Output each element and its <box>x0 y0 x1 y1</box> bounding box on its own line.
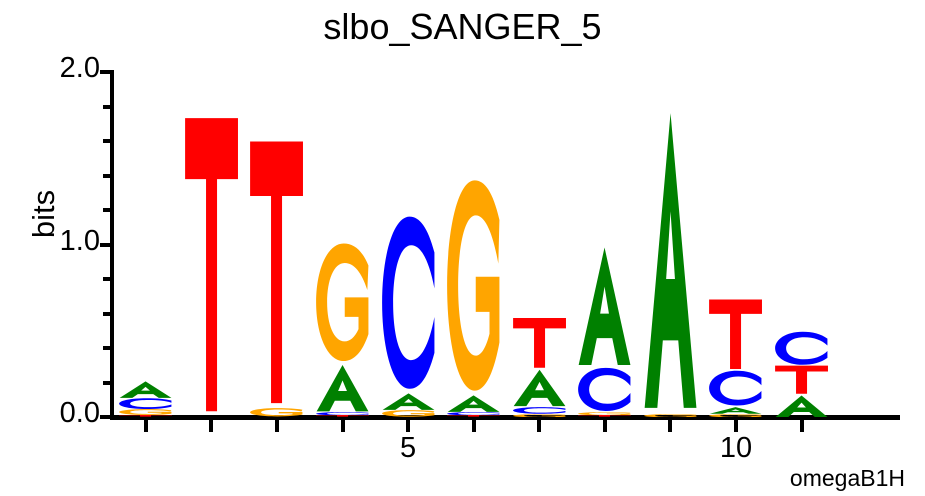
y-tick-minor-mark <box>103 381 114 385</box>
y-tick-minor-mark <box>103 105 114 109</box>
logo-letter-t <box>184 112 239 417</box>
logo-position-stack <box>446 176 501 418</box>
x-tick-mark <box>668 420 672 432</box>
y-tick-label: 1.0 <box>26 225 100 258</box>
logo-letter-t <box>708 298 763 370</box>
logo-letter-t <box>118 415 173 417</box>
x-tick-mark <box>800 420 804 432</box>
y-tick-label: 0.0 <box>26 397 100 430</box>
logo-position-stack <box>643 107 698 418</box>
sequence-logo-chart: slbo_SANGER_5 bits 0.01.02.0 510 omegaB1… <box>0 0 925 496</box>
y-tick-mark <box>100 70 114 74</box>
x-tick-mark <box>734 420 738 432</box>
logo-letter-a <box>381 393 436 410</box>
logo-position-stack <box>381 213 436 417</box>
logo-letter-c <box>381 213 436 392</box>
logo-letter-c <box>118 398 173 409</box>
y-tick-minor-mark <box>103 277 114 281</box>
logo-letter-t <box>315 415 370 417</box>
logo-letter-a <box>446 395 501 412</box>
logo-letter-c <box>577 367 632 412</box>
x-tick-label: 10 <box>706 432 766 465</box>
y-axis-ticks: 0.01.02.0 <box>8 0 100 496</box>
x-axis-annotation: omegaB1H <box>790 465 905 492</box>
y-tick-minor-mark <box>103 208 114 212</box>
logo-letter-g <box>381 410 436 417</box>
y-tick-minor-mark <box>103 346 114 350</box>
logo-letter-g <box>643 414 698 417</box>
y-tick-minor-mark <box>103 174 114 178</box>
logo-letter-g <box>249 408 304 417</box>
logo-letter-c <box>512 407 567 414</box>
logo-letter-a <box>118 381 173 398</box>
y-tick-mark <box>100 243 114 247</box>
logo-letter-a <box>708 407 763 414</box>
logo-letter-g <box>708 414 763 417</box>
logo-position-stack <box>577 245 632 418</box>
logo-letter-t <box>446 415 501 417</box>
x-tick-mark <box>144 420 148 432</box>
logo-position-stack <box>774 331 829 417</box>
logo-letter-a <box>512 369 567 407</box>
x-tick-label: 5 <box>378 432 438 465</box>
logo-letter-t <box>577 415 632 417</box>
x-tick-mark <box>275 420 279 432</box>
logo-letter-a <box>774 395 829 417</box>
logo-position-stack <box>184 112 239 417</box>
logo-letter-t <box>249 136 304 409</box>
logo-letter-c <box>708 370 763 406</box>
logo-letter-a <box>643 107 698 414</box>
x-tick-mark <box>472 420 476 432</box>
logo-position-stack <box>249 136 304 417</box>
x-tick-mark <box>341 420 345 432</box>
logo-position-stack <box>315 241 370 417</box>
logo-position-stack <box>708 298 763 417</box>
y-tick-minor-mark <box>103 312 114 316</box>
page-title: slbo_SANGER_5 <box>0 6 925 48</box>
logo-letter-t <box>774 365 829 394</box>
logo-letter-t <box>512 317 567 369</box>
logo-letter-g <box>446 176 501 395</box>
x-tick-mark <box>209 420 213 432</box>
y-tick-minor-mark <box>103 139 114 143</box>
logo-letter-g <box>512 414 567 417</box>
x-tick-mark <box>603 420 607 432</box>
x-tick-mark <box>537 420 541 432</box>
y-tick-label: 2.0 <box>26 52 100 85</box>
logo-letter-a <box>315 364 370 412</box>
x-tick-mark <box>406 420 410 432</box>
logo-letter-a <box>577 245 632 367</box>
logo-letter-g <box>315 241 370 363</box>
logo-position-stack <box>512 317 567 417</box>
y-tick-mark <box>100 415 114 419</box>
logo-letter-c <box>774 331 829 366</box>
logo-position-stack <box>118 381 173 417</box>
